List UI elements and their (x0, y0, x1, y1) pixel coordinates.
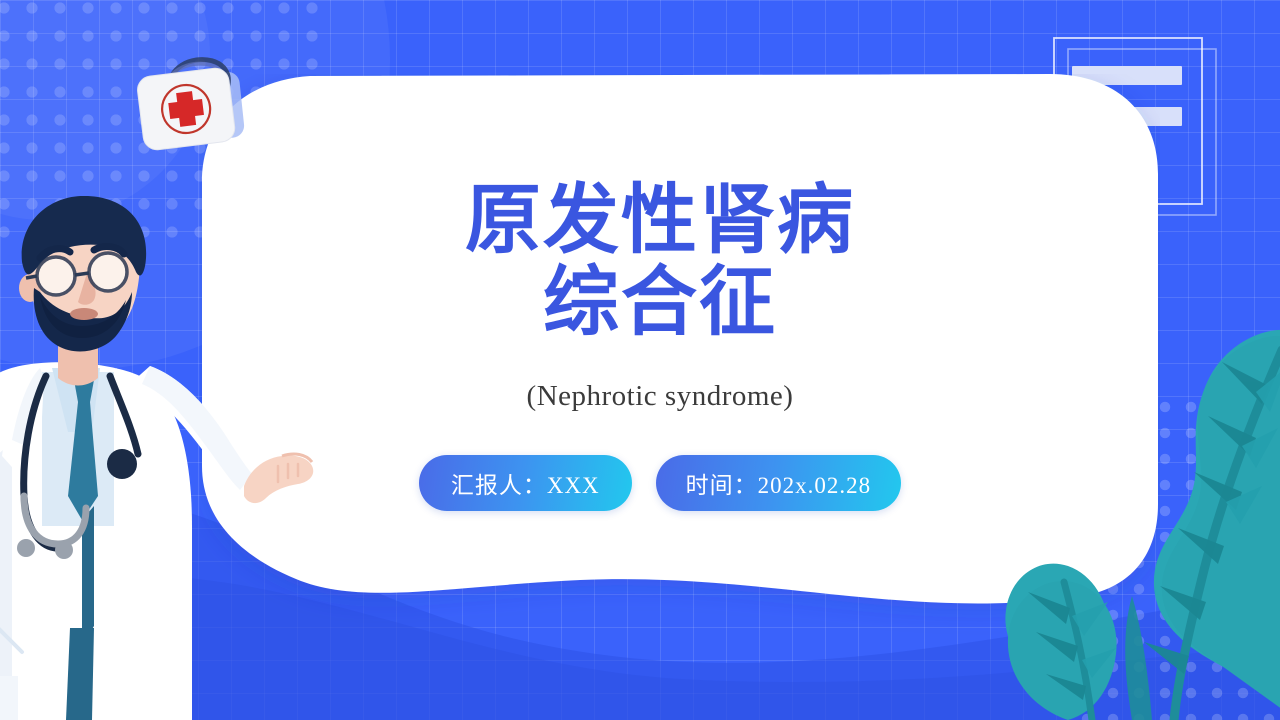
page-title: 原发性肾病综合征 (330, 180, 990, 344)
meta-row: 汇报人：XXX 时间：202x.02.28 (330, 455, 990, 511)
presenter-badge[interactable]: 汇报人：XXX (419, 455, 632, 511)
date-badge[interactable]: 时间：202x.02.28 (656, 455, 902, 511)
title-line-1: 原发性肾病 (465, 178, 855, 263)
page-subtitle: (Nephrotic syndrome) (330, 380, 990, 413)
first-aid-kit-icon (128, 46, 253, 164)
title-line-2: 综合征 (543, 260, 777, 345)
doctor-illustration (0, 196, 332, 720)
presentation-slide: 原发性肾病综合征 (Nephrotic syndrome) 汇报人：XXX 时间… (0, 0, 1280, 720)
card-content: 原发性肾病综合征 (Nephrotic syndrome) 汇报人：XXX 时间… (330, 180, 990, 511)
leaf-plant-illustration (956, 320, 1280, 720)
